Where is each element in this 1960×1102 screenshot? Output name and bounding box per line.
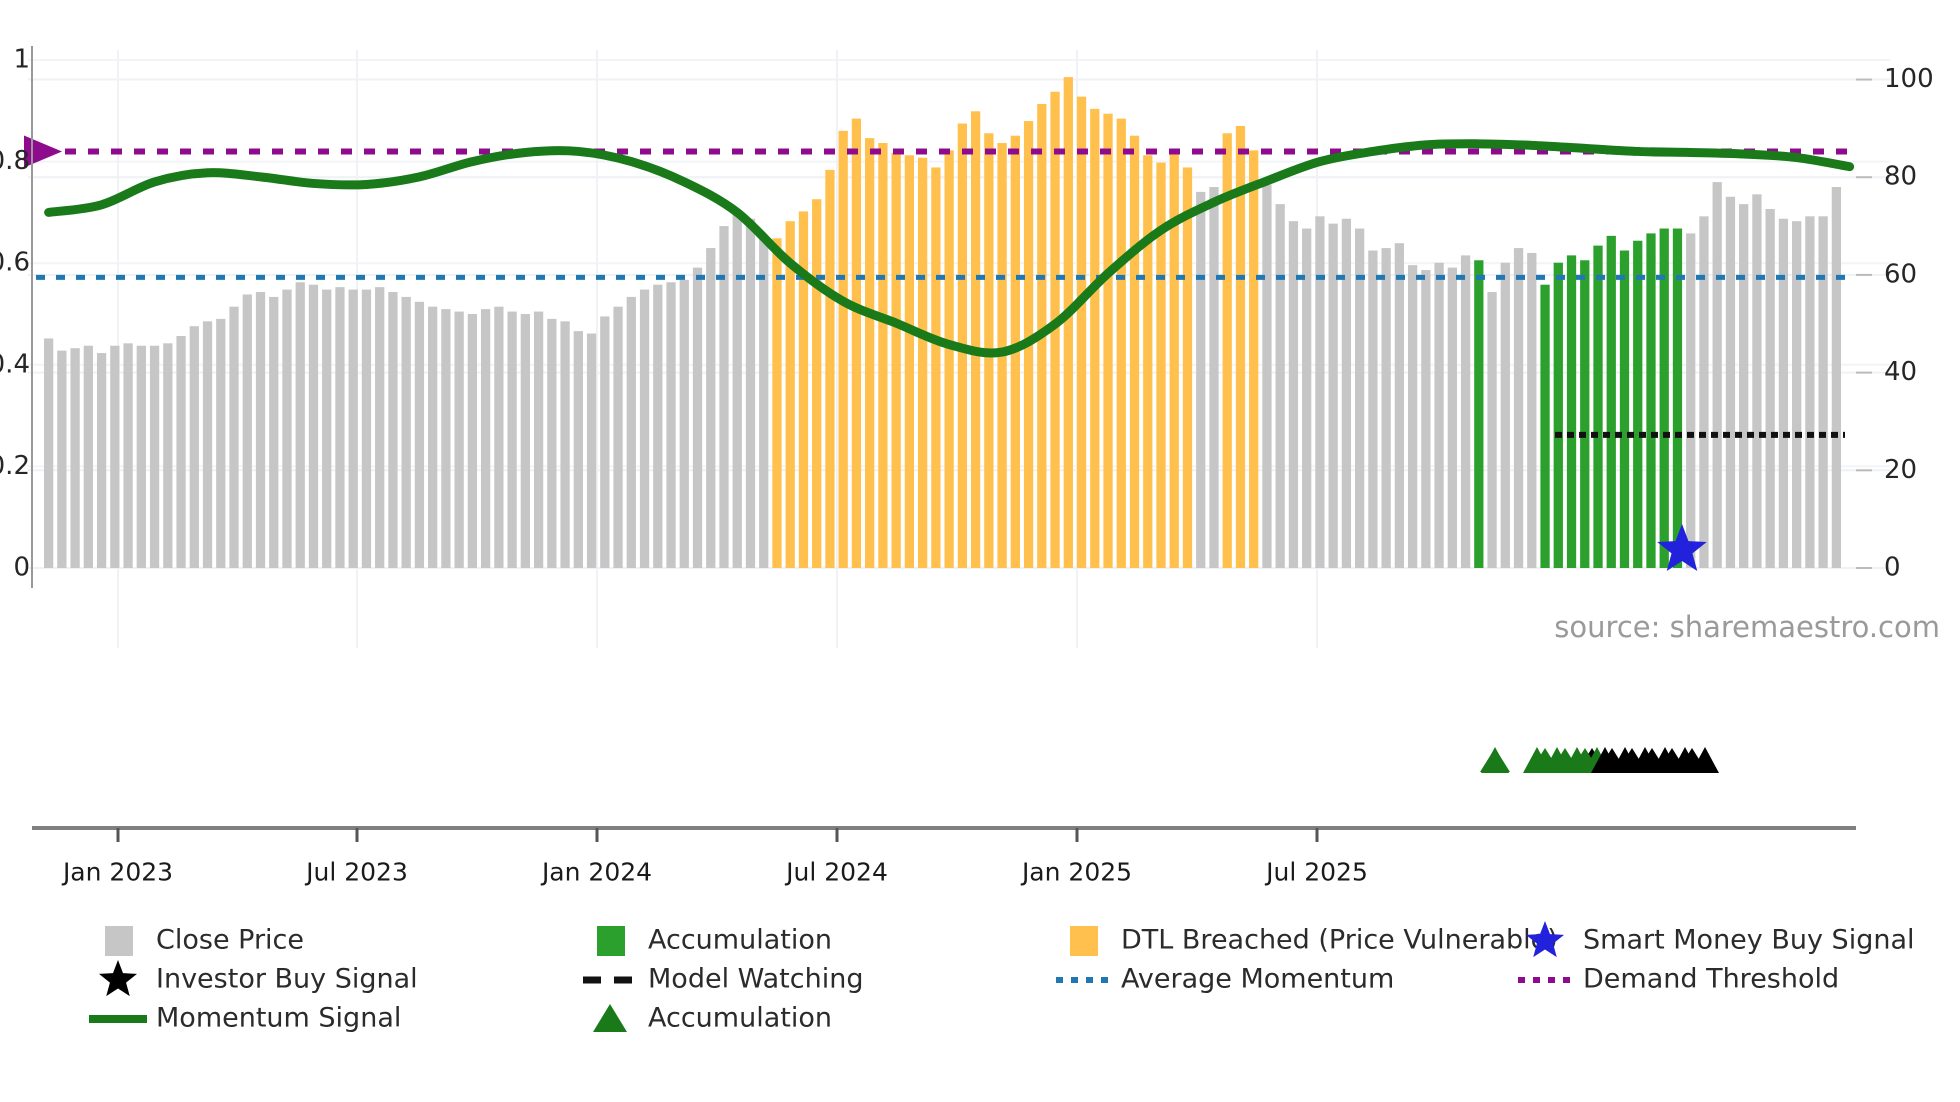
close-price-bar [216,319,225,568]
close-price-bar [57,351,66,568]
close-price-bar [1779,219,1788,568]
close-price-bar [693,268,702,568]
close-price-bar [428,307,437,568]
close-price-bar [878,143,887,568]
close-price-bar [1633,241,1642,568]
legend-smart-money-buy-signal[interactable]: Smart Money Buy Signal [1526,921,1915,957]
close-price-bar [653,285,662,568]
close-price-bar [825,170,834,568]
legend-item-label: DTL Breached (Price Vulnerable) [1121,925,1558,956]
close-price-bar [1567,255,1576,568]
close-price-bar [905,155,914,568]
legend-item-label: Demand Threshold [1583,964,1839,995]
right-axis-tick-label: 0 [1884,553,1901,583]
close-price-bar [203,321,212,568]
close-price-bar [918,158,927,568]
legend-item-label: Model Watching [648,964,863,995]
close-price-bar [852,119,861,568]
close-price-bar [163,343,172,568]
close-price-bar [1474,260,1483,568]
close-price-bar [415,302,424,568]
close-price-bar [733,214,742,568]
close-price-bar [547,319,556,568]
close-price-bar [600,316,609,568]
close-price-bar [1395,243,1404,568]
close-price-bar [812,199,821,568]
close-price-bar [190,326,199,568]
close-price-bar [1620,251,1629,569]
close-price-bar [402,297,411,568]
close-price-bar [123,343,132,568]
legend-swatch-icon [597,926,625,956]
close-price-bar [971,111,980,568]
close-price-bar [1805,216,1814,568]
legend-item-label: Close Price [156,925,304,956]
close-price-bar [680,280,689,568]
close-price-bar [1249,150,1258,568]
close-price-bar [1713,182,1722,568]
close-price-bar [494,307,503,568]
right-axis-tick-label: 60 [1884,259,1917,289]
left-axis-tick-label: 1 [13,45,30,75]
close-price-bar [1461,255,1470,568]
close-price-bar [1514,248,1523,568]
close-price-bar [269,297,278,568]
close-price-bar [84,346,93,568]
close-price-bar [176,336,185,568]
close-price-bar [1103,114,1112,568]
close-price-bar [706,248,715,568]
x-axis-tick-label: Jul 2025 [1264,857,1368,886]
legend-dtl-breached[interactable]: DTL Breached (Price Vulnerable) [1070,925,1558,957]
close-price-bar [455,312,464,568]
close-price-bar [1421,270,1430,568]
right-axis-tick-label: 20 [1884,455,1917,485]
close-price-bar [521,314,530,568]
close-price-bar [97,353,106,568]
close-price-bar [931,167,940,568]
close-price-bar [388,292,397,568]
legend-swatch-icon [105,926,133,956]
close-price-bar [759,236,768,568]
close-price-bar [1593,246,1602,568]
close-price-bar [1289,221,1298,568]
legend-item-label: Accumulation [648,925,832,956]
close-price-bar [1381,248,1390,568]
close-price-bar [1832,187,1841,568]
close-price-bar [627,297,636,568]
close-price-bar [229,307,238,568]
close-price-bar [666,282,675,568]
close-price-bar [1090,109,1099,568]
close-price-bar [1699,216,1708,568]
x-axis-tick-label: Jul 2023 [304,857,408,886]
close-price-bar [468,314,477,568]
close-price-bar [1646,233,1655,568]
right-axis-tick-label: 40 [1884,357,1917,387]
close-price-bar [375,287,384,568]
close-price-bar [892,153,901,568]
close-price-bar [1726,197,1735,568]
close-price-bar [1408,265,1417,568]
close-price-bar [1262,185,1271,568]
close-price-bar [1580,260,1589,568]
close-price-bar [534,312,543,568]
close-price-bar [70,348,79,568]
close-price-bar [322,290,331,568]
legend-item-label: Smart Money Buy Signal [1583,925,1915,956]
close-price-bar [772,238,781,568]
close-price-bar [256,292,265,568]
legend-item-label: Investor Buy Signal [156,964,418,995]
close-price-bar [1064,77,1073,568]
close-price-bar [574,331,583,568]
close-price-bar [1143,155,1152,568]
legend-item-label: Momentum Signal [156,1003,401,1034]
close-price-bar [786,221,795,568]
x-axis-tick-label: Jul 2024 [784,857,888,886]
close-price-bar [1368,251,1377,569]
close-price-bar [1170,150,1179,568]
stock-momentum-chart: 00.20.40.60.81020406080100Jan 2023Jul 20… [0,0,1960,1102]
left-axis-tick-label: 0.4 [0,349,30,379]
x-axis-tick-label: Jan 2023 [61,857,173,886]
close-price-bar [1540,285,1549,568]
close-price-bar [507,312,516,568]
close-price-bar [1342,219,1351,568]
close-price-bar [243,294,252,568]
close-price-bar [560,321,569,568]
close-price-bar [1434,263,1443,568]
close-price-bar [1276,204,1285,568]
close-price-bar [137,346,146,568]
close-price-bar [110,346,119,568]
close-price-bar [296,282,305,568]
close-price-bar [1117,119,1126,568]
close-price-bar [1501,263,1510,568]
close-price-bar [1196,192,1205,568]
close-price-bar [441,309,450,568]
close-price-bar [1448,268,1457,568]
close-price-bar [799,211,808,568]
close-price-bar [150,346,159,568]
close-price-bar [1607,236,1616,568]
right-axis-tick-label: 100 [1884,64,1934,94]
close-price-bar [1183,167,1192,568]
close-price-bar [839,131,848,568]
close-price-bar [1487,292,1496,568]
left-axis-tick-label: 0.2 [0,451,30,481]
close-price-bar [44,338,53,568]
x-axis-tick-label: Jan 2025 [1020,857,1132,886]
close-price-bar [1792,221,1801,568]
close-price-bar [1819,216,1828,568]
close-price-bar [865,138,874,568]
close-price-bar [1130,136,1139,568]
legend-swatch-icon [1070,926,1098,956]
close-price-bar [1686,233,1695,568]
close-price-bar [1077,97,1086,568]
right-axis-tick-label: 80 [1884,162,1917,192]
close-price-bar [349,290,358,568]
close-price-bar [1527,253,1536,568]
x-axis-tick-label: Jan 2024 [540,857,652,886]
close-price-bar [613,307,622,568]
close-price-bar [362,290,371,568]
close-price-bar [1766,209,1775,568]
legend-item-label: Accumulation [648,1003,832,1034]
left-axis-tick-label: 0.8 [0,146,30,176]
close-price-bar [282,290,291,568]
close-price-bar [481,309,490,568]
close-price-bar [746,219,755,568]
close-price-bar [335,287,344,568]
legend-item-label: Average Momentum [1121,964,1394,995]
close-price-bar [640,290,649,568]
left-axis-tick-label: 0 [13,553,30,583]
close-price-bar [309,285,318,568]
chart-root: 00.20.40.60.81020406080100Jan 2023Jul 20… [0,0,1960,1102]
source-watermark: source: sharemaestro.com [1554,610,1940,644]
close-price-bar [1554,263,1563,568]
close-price-bar [944,150,953,568]
close-price-bar [1739,204,1748,568]
close-price-bar [1752,194,1761,568]
left-axis-tick-label: 0.6 [0,248,30,278]
close-price-bar [587,334,596,568]
close-price-bar [1315,216,1324,568]
close-price-bar [1209,187,1218,568]
